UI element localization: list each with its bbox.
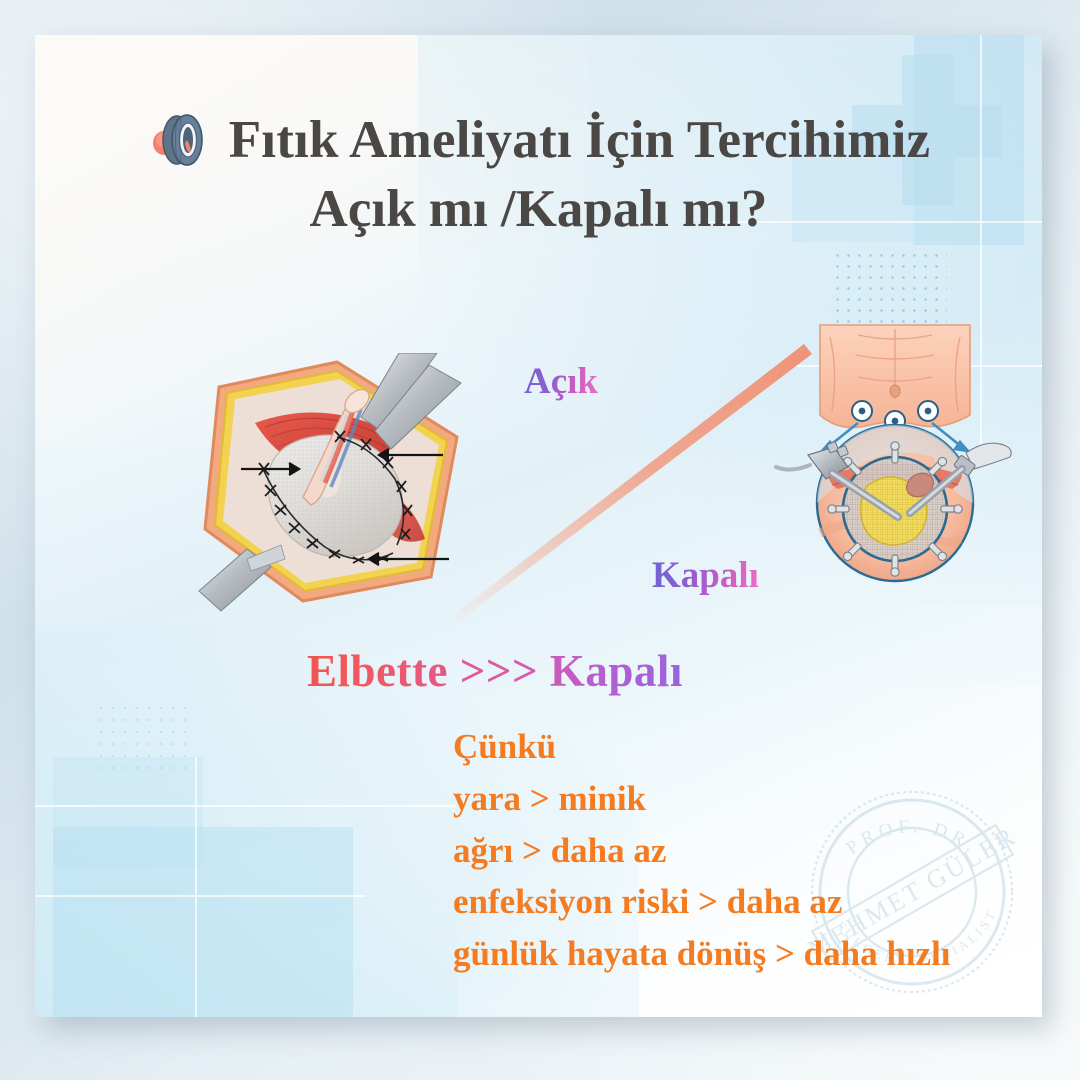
reason-item: günlük hayata dönüş > daha hızlı	[453, 928, 951, 980]
reason-item: ağrı > daha az	[453, 825, 951, 877]
verdict-text: Elbette >>> Kapalı	[307, 645, 683, 697]
label-closed-surgery: Kapalı	[652, 554, 759, 597]
page-header: Fıtık Ameliyatı İçin Tercihimiz Açık mı …	[35, 107, 1042, 239]
reason-item: enfeksiyon riski > daha az	[453, 876, 951, 928]
page-title-line-2: Açık mı /Kapalı mı?	[35, 179, 1042, 239]
open-hernia-repair-illustration	[185, 353, 485, 615]
infographic-card: Fıtık Ameliyatı İçin Tercihimiz Açık mı …	[35, 35, 1042, 1017]
reason-list: Çünkü yara > minik ağrı > daha az enfeks…	[453, 721, 951, 980]
label-open-surgery: Açık	[524, 360, 598, 403]
laparoscopic-hernia-repair-illustration	[770, 307, 1020, 607]
hernia-ring-icon	[147, 107, 213, 173]
reason-item: yara > minik	[453, 773, 951, 825]
page-title-line-1: Fıtık Ameliyatı İçin Tercihimiz	[229, 109, 931, 172]
reason-item: Çünkü	[453, 721, 951, 773]
